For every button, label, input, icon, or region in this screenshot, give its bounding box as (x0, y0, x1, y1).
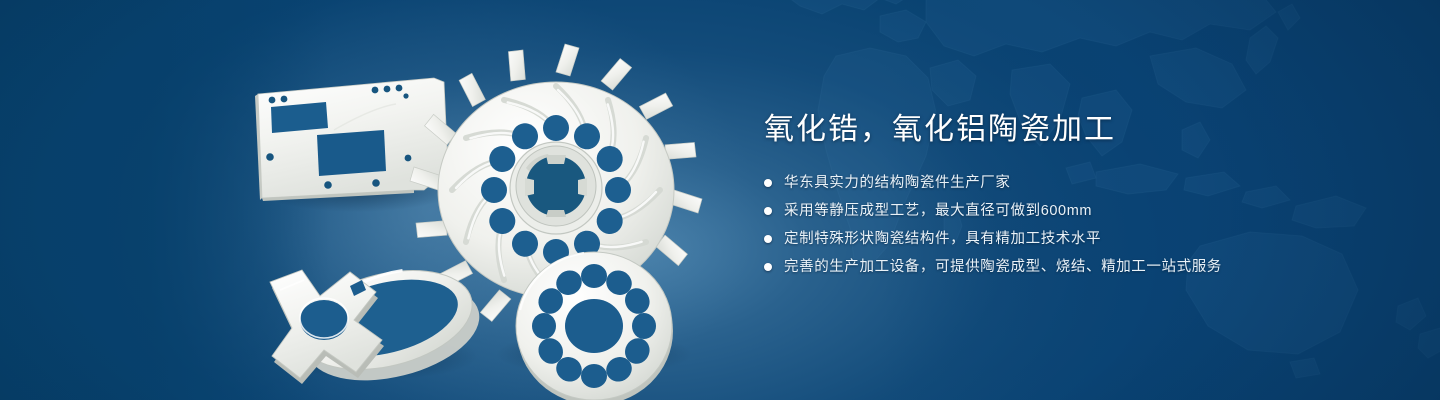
feature-item-3: 定制特殊形状陶瓷结构件，具有精加工技术水平 (764, 228, 1404, 250)
feature-text-4: 完善的生产加工设备，可提供陶瓷成型、烧结、精加工一站式服务 (784, 256, 1222, 278)
ceramic-perforated-disc-graphic (516, 252, 673, 400)
feature-list: 华东具实力的结构陶瓷件生产厂家 采用等静压成型工艺，最大直径可做到600mm 定… (764, 172, 1404, 278)
feature-text-2: 采用等静压成型工艺，最大直径可做到600mm (784, 200, 1092, 222)
banner-headline: 氧化锆，氧化铝陶瓷加工 (764, 110, 1404, 150)
feature-item-2: 采用等静压成型工艺，最大直径可做到600mm (764, 200, 1404, 222)
bullet-dot-icon (764, 179, 772, 187)
bullet-dot-icon (764, 207, 772, 215)
feature-text-1: 华东具实力的结构陶瓷件生产厂家 (784, 172, 1011, 194)
hero-banner: 氧化锆，氧化铝陶瓷加工 华东具实力的结构陶瓷件生产厂家 采用等静压成型工艺，最大… (0, 0, 1440, 400)
feature-item-1: 华东具实力的结构陶瓷件生产厂家 (764, 172, 1404, 194)
banner-copy-block: 氧化锆，氧化铝陶瓷加工 华东具实力的结构陶瓷件生产厂家 采用等静压成型工艺，最大… (764, 110, 1404, 284)
feature-text-3: 定制特殊形状陶瓷结构件，具有精加工技术水平 (784, 228, 1101, 250)
feature-item-4: 完善的生产加工设备，可提供陶瓷成型、烧结、精加工一站式服务 (764, 256, 1404, 278)
ceramic-products-photo (238, 38, 698, 383)
bullet-dot-icon (764, 263, 772, 271)
bullet-dot-icon (764, 235, 772, 243)
